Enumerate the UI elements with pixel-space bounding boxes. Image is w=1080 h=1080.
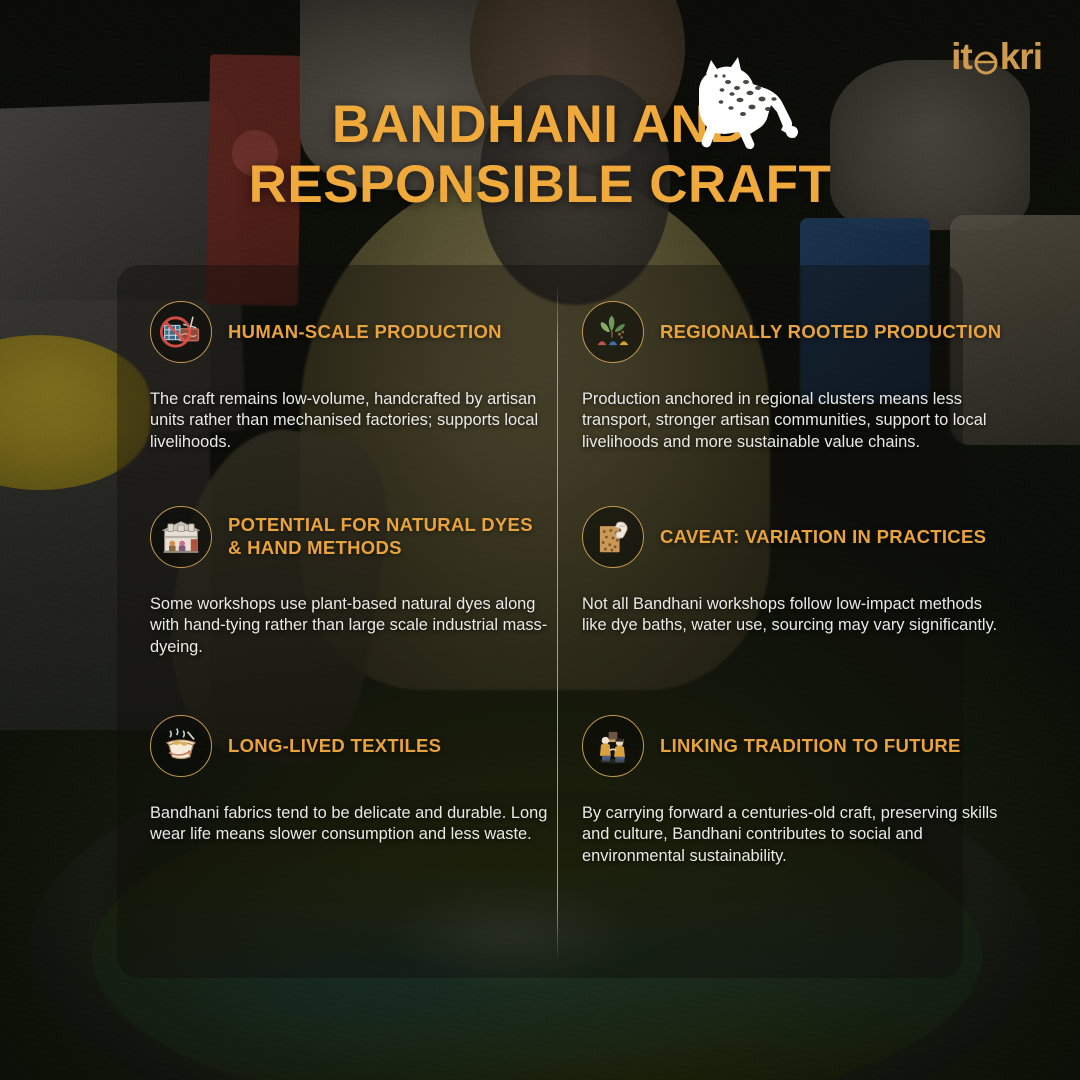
card-header: HUMAN-SCALE PRODUCTION — [150, 301, 550, 363]
steaming-dye-pot-icon — [150, 715, 212, 777]
two-artisans-working-icon — [582, 715, 644, 777]
no-factory-machine-icon — [150, 301, 212, 363]
card-body: The craft remains low-volume, handcrafte… — [150, 389, 550, 453]
card-body: By carrying forward a centuries-old craf… — [582, 803, 1002, 867]
leaves-and-dye-powders-icon — [582, 301, 644, 363]
card-body: Some workshops use plant-based natural d… — [150, 594, 550, 658]
card-header: REGIONALLY ROOTED PRODUCTION — [582, 301, 1002, 363]
card-title: POTENTIAL FOR NATURAL DYES & HAND METHOD… — [228, 514, 550, 559]
card-potential-for-natural-dyes[interactable]: POTENTIAL FOR NATURAL DYES & HAND METHOD… — [150, 506, 550, 658]
card-header: POTENTIAL FOR NATURAL DYES & HAND METHOD… — [150, 506, 550, 568]
card-body: Not all Bandhani workshops follow low-im… — [582, 594, 1002, 637]
card-title: CAVEAT: VARIATION IN PRACTICES — [660, 526, 986, 549]
card-title: HUMAN-SCALE PRODUCTION — [228, 321, 502, 344]
workshop-building-icon — [150, 506, 212, 568]
brand-logo[interactable]: it kri — [951, 38, 1042, 75]
brand-logo-text-left: it — [951, 38, 972, 75]
header: BANDHANI AND RESPONSIBLE CRAFT — [0, 0, 1080, 250]
card-header: LONG-LIVED TEXTILES — [150, 715, 550, 777]
page-title-line-1: BANDHANI AND — [332, 95, 748, 154]
card-human-scale-production[interactable]: HUMAN-SCALE PRODUCTION The craft remains… — [150, 301, 550, 453]
cards-grid: HUMAN-SCALE PRODUCTION The craft remains… — [117, 265, 963, 978]
page-title-line-2: RESPONSIBLE CRAFT — [0, 155, 1080, 215]
card-caveat-variation-in-practices[interactable]: CAVEAT: VARIATION IN PRACTICES Not all B… — [582, 506, 1002, 637]
card-body: Bandhani fabrics tend to be delicate and… — [150, 803, 550, 846]
card-title: LINKING TRADITION TO FUTURE — [660, 735, 961, 758]
hand-holding-fabric-swatch-icon — [582, 506, 644, 568]
page-title: BANDHANI AND RESPONSIBLE CRAFT — [0, 95, 1080, 215]
card-title: REGIONALLY ROOTED PRODUCTION — [660, 321, 1001, 344]
brand-logo-text-right: kri — [1000, 38, 1042, 75]
card-linking-tradition-to-future[interactable]: LINKING TRADITION TO FUTURE By carrying … — [582, 715, 1002, 867]
content-panel: HUMAN-SCALE PRODUCTION The craft remains… — [117, 265, 963, 978]
card-regionally-rooted-production[interactable]: REGIONALLY ROOTED PRODUCTION Production … — [582, 301, 1002, 453]
card-header: CAVEAT: VARIATION IN PRACTICES — [582, 506, 1002, 568]
card-header: LINKING TRADITION TO FUTURE — [582, 715, 1002, 777]
card-body: Production anchored in regional clusters… — [582, 389, 1002, 453]
card-title: LONG-LIVED TEXTILES — [228, 735, 441, 758]
basket-icon — [973, 44, 999, 70]
card-long-lived-textiles[interactable]: LONG-LIVED TEXTILES Bandhani fabrics ten… — [150, 715, 550, 846]
